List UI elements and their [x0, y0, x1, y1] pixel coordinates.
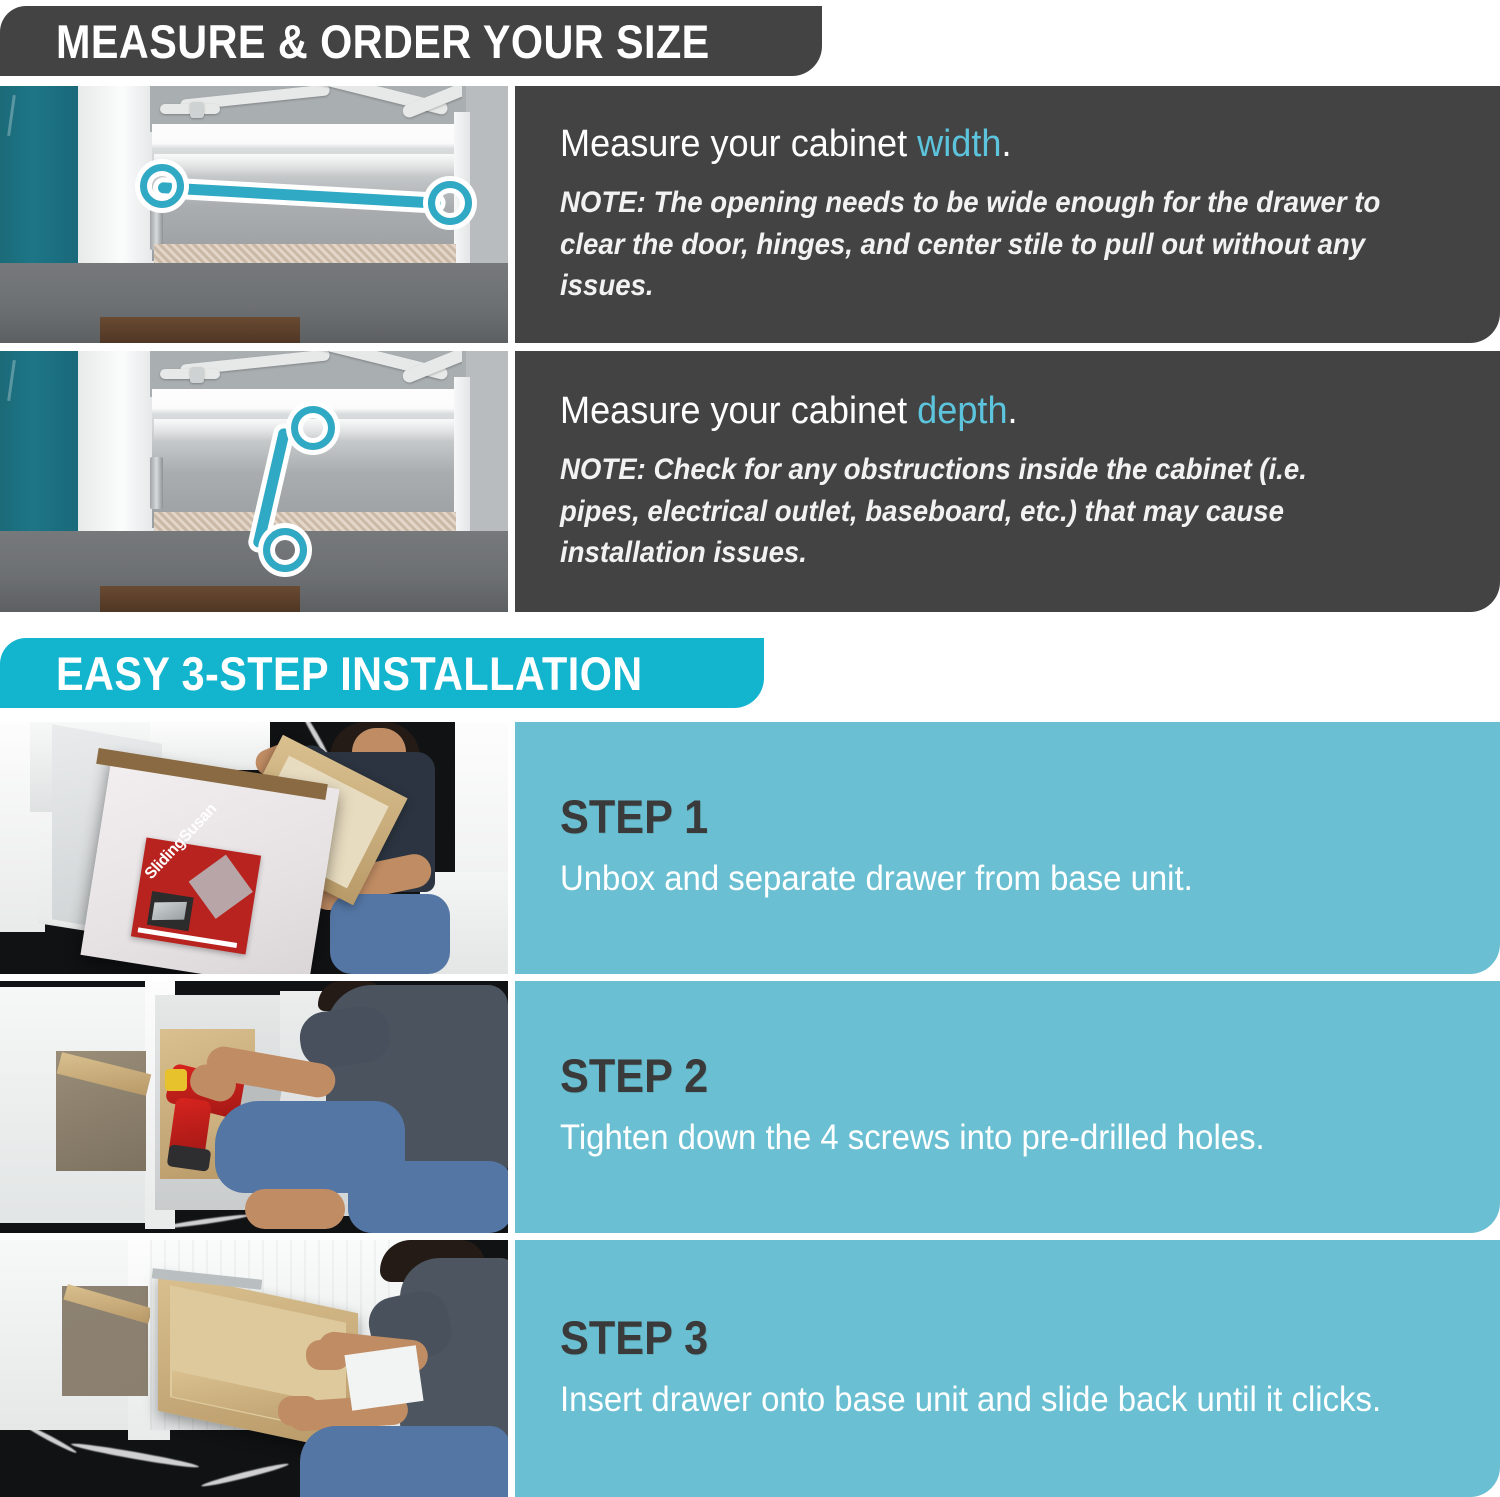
step-1-label: STEP 1 — [560, 793, 1390, 840]
install-step-1-row: SlidingSusan STEP 1 Unbox and separate d… — [0, 722, 1500, 974]
width-measure-endpoint-left — [140, 164, 184, 208]
install-section-banner: EASY 3-STEP INSTALLATION — [0, 638, 764, 708]
heading-prefix: Measure your cabinet — [560, 123, 917, 165]
measure-width-note: NOTE: The opening needs to be wide enoug… — [560, 182, 1390, 306]
install-step-3-row: STEP 3 Insert drawer onto base unit and … — [0, 1240, 1500, 1497]
step-1-photo: SlidingSusan — [0, 722, 508, 974]
heading-highlight: width — [917, 123, 1001, 165]
measure-depth-heading: Measure your cabinet depth. — [560, 390, 1417, 434]
measure-depth-row: Measure your cabinet depth. NOTE: Check … — [0, 351, 1500, 612]
step-3-label: STEP 3 — [560, 1314, 1390, 1361]
measure-section-banner: MEASURE & ORDER YOUR SIZE — [0, 6, 822, 76]
measure-banner-label: MEASURE & ORDER YOUR SIZE — [56, 18, 710, 65]
cabinet-depth-photo — [0, 351, 508, 612]
product-box-label: SlidingSusan — [131, 838, 261, 955]
install-step-2-panel: STEP 2 Tighten down the 4 screws into pr… — [515, 981, 1500, 1233]
step-2-text: Tighten down the 4 screws into pre-drill… — [560, 1115, 1408, 1161]
install-banner-label: EASY 3-STEP INSTALLATION — [56, 650, 643, 697]
step-2-label: STEP 2 — [560, 1052, 1390, 1099]
depth-measure-endpoint-bottom — [263, 528, 307, 572]
measure-width-panel: Measure your cabinet width. NOTE: The op… — [515, 86, 1500, 343]
install-step-3-panel: STEP 3 Insert drawer onto base unit and … — [515, 1240, 1500, 1497]
heading-prefix: Measure your cabinet — [560, 390, 917, 432]
width-measure-endpoint-right — [428, 181, 472, 225]
measure-width-row: Measure your cabinet width. NOTE: The op… — [0, 86, 1500, 343]
heading-suffix: . — [1001, 123, 1011, 165]
step-2-photo — [0, 981, 508, 1233]
install-step-2-row: STEP 2 Tighten down the 4 screws into pr… — [0, 981, 1500, 1233]
measure-depth-note: NOTE: Check for any obstructions inside … — [560, 449, 1390, 573]
depth-measure-endpoint-top — [291, 406, 335, 450]
cabinet-width-photo — [0, 86, 508, 343]
heading-suffix: . — [1008, 390, 1018, 432]
step-3-text: Insert drawer onto base unit and slide b… — [560, 1377, 1408, 1423]
step-3-photo — [0, 1240, 508, 1497]
measure-width-heading: Measure your cabinet width. — [560, 123, 1417, 167]
install-step-1-panel: STEP 1 Unbox and separate drawer from ba… — [515, 722, 1500, 974]
heading-highlight: depth — [917, 390, 1007, 432]
measure-depth-panel: Measure your cabinet depth. NOTE: Check … — [515, 351, 1500, 612]
step-1-text: Unbox and separate drawer from base unit… — [560, 856, 1408, 902]
